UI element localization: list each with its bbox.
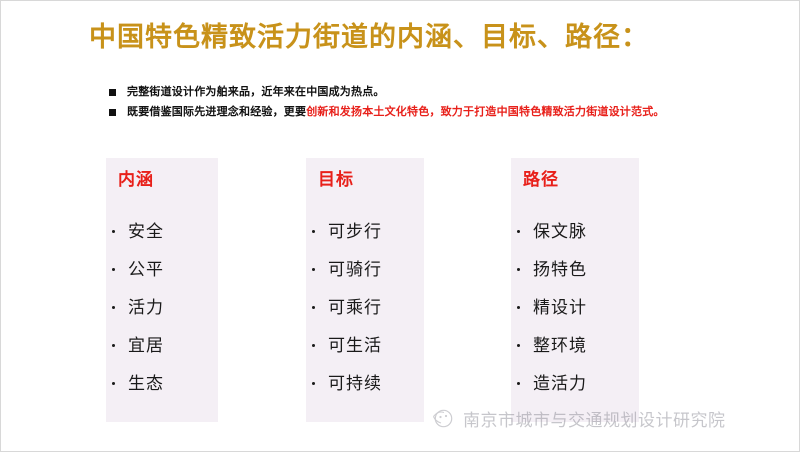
- list-item: 整环境: [511, 328, 639, 362]
- dot-bullet-icon: [517, 306, 520, 309]
- list-item: 可步行: [306, 214, 424, 248]
- dot-bullet-icon: [312, 268, 315, 271]
- concept-card-neihan: 内涵 安全 公平 活力 宜居: [106, 158, 218, 422]
- list-item: 安全: [106, 214, 218, 248]
- bullet-list: 完整街道设计作为舶来品，近年来在中国成为热点。 既要借鉴国际先进理念和经验，更要…: [109, 85, 729, 125]
- list-item: 宜居: [106, 328, 218, 362]
- concept-card-group: 内涵 安全 公平 活力 宜居: [106, 158, 706, 422]
- card-heading: 目标: [318, 170, 424, 190]
- dot-bullet-icon: [312, 230, 315, 233]
- bullet-segment-emphasis: 创新和发扬本土文化特色，致力于打造中国特色精致活力街道设计范式。: [306, 106, 664, 118]
- bullet-segment-plain: 完整街道设计作为舶来品，近年来在中国成为热点。: [127, 86, 385, 98]
- card-item-list: 可步行 可骑行 可乘行 可生活 可持续: [306, 214, 424, 400]
- footer-organization-name: 南京市城市与交通规划设计研究院: [463, 406, 726, 431]
- list-item: 生态: [106, 366, 218, 400]
- list-item-label: 可步行: [328, 223, 382, 240]
- list-item-label: 生态: [128, 375, 164, 392]
- dot-bullet-icon: [112, 382, 115, 385]
- list-item-label: 可生活: [328, 337, 382, 354]
- dot-bullet-icon: [517, 268, 520, 271]
- list-item-label: 可乘行: [328, 299, 382, 316]
- dot-bullet-icon: [112, 230, 115, 233]
- list-item: 可持续: [306, 366, 424, 400]
- card-item-list: 安全 公平 活力 宜居 生态: [106, 214, 218, 400]
- card-item-list: 保文脉 扬特色 精设计 整环境 造活力: [511, 214, 639, 400]
- list-item-label: 可持续: [328, 375, 382, 392]
- footer-watermark: 南京市城市与交通规划设计研究院: [429, 405, 726, 431]
- square-bullet-icon: [109, 89, 116, 96]
- bullet-item: 完整街道设计作为舶来品，近年来在中国成为热点。: [109, 85, 729, 100]
- page-title: 中国特色精致活力街道的内涵、目标、路径：: [89, 21, 729, 53]
- bullet-item: 既要借鉴国际先进理念和经验，更要创新和发扬本土文化特色，致力于打造中国特色精致活…: [109, 105, 729, 120]
- list-item: 公平: [106, 252, 218, 286]
- square-bullet-icon: [109, 109, 116, 116]
- bullet-item-text: 既要借鉴国际先进理念和经验，更要创新和发扬本土文化特色，致力于打造中国特色精致活…: [127, 105, 665, 120]
- list-item-label: 保文脉: [533, 223, 587, 240]
- concept-card-lujing: 路径 保文脉 扬特色 精设计 整环境: [511, 158, 639, 422]
- dot-bullet-icon: [517, 382, 520, 385]
- list-item-label: 安全: [128, 223, 164, 240]
- card-heading: 路径: [523, 170, 639, 190]
- list-item: 可骑行: [306, 252, 424, 286]
- list-item: 精设计: [511, 290, 639, 324]
- list-item-label: 整环境: [533, 337, 587, 354]
- dot-bullet-icon: [517, 230, 520, 233]
- dot-bullet-icon: [312, 344, 315, 347]
- circular-institute-logo-icon: [429, 405, 455, 431]
- dot-bullet-icon: [517, 344, 520, 347]
- list-item-label: 公平: [128, 261, 164, 278]
- list-item: 可乘行: [306, 290, 424, 324]
- list-item: 保文脉: [511, 214, 639, 248]
- list-item-label: 可骑行: [328, 261, 382, 278]
- slide-canvas: 中国特色精致活力街道的内涵、目标、路径： 完整街道设计作为舶来品，近年来在中国成…: [0, 0, 800, 452]
- dot-bullet-icon: [112, 306, 115, 309]
- dot-bullet-icon: [312, 382, 315, 385]
- dot-bullet-icon: [112, 268, 115, 271]
- list-item: 活力: [106, 290, 218, 324]
- list-item: 造活力: [511, 366, 639, 400]
- list-item-label: 活力: [128, 299, 164, 316]
- dot-bullet-icon: [312, 306, 315, 309]
- list-item: 扬特色: [511, 252, 639, 286]
- list-item-label: 造活力: [533, 375, 587, 392]
- dot-bullet-icon: [112, 344, 115, 347]
- list-item-label: 宜居: [128, 337, 164, 354]
- list-item-label: 扬特色: [533, 261, 587, 278]
- concept-card-mubiao: 目标 可步行 可骑行 可乘行 可生活: [306, 158, 424, 422]
- list-item: 可生活: [306, 328, 424, 362]
- card-heading: 内涵: [118, 170, 218, 190]
- bullet-item-text: 完整街道设计作为舶来品，近年来在中国成为热点。: [127, 85, 385, 100]
- list-item-label: 精设计: [533, 299, 587, 316]
- bullet-segment-plain: 既要借鉴国际先进理念和经验，更要: [127, 106, 306, 118]
